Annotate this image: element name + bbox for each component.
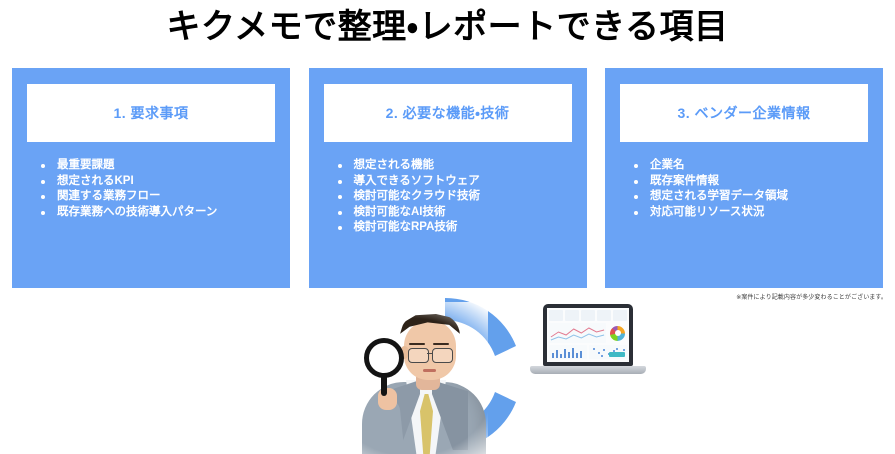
card-3-list: 企業名 既存案件情報 想定される学習データ領域 対応可能リソース状況 — [620, 142, 868, 220]
eyeglasses-lens-left — [408, 348, 429, 363]
card-1-list: 最重要課題 想定されるKPI 関連する業務フロー 既存業務への技術導入パターン — [27, 142, 275, 220]
list-item: 既存案件情報 — [634, 174, 868, 190]
laptop-icon — [530, 304, 646, 386]
list-item: 検討可能なクラウド技術 — [338, 189, 572, 205]
kpi-tile — [581, 310, 595, 321]
card-header-2: 2. 必要な機能・技術 — [324, 84, 572, 142]
card-functions-technology: 2. 必要な機能・技術 想定される機能 導入できるソフトウェア 検討可能なクラウ… — [309, 68, 587, 288]
kpi-tile — [597, 310, 611, 321]
list-item: 関連する業務フロー — [41, 189, 275, 205]
card-requirements: 1. 要求事項 最重要課題 想定されるKPI 関連する業務フロー 既存業務への技… — [12, 68, 290, 288]
list-item: 検討可能なAI技術 — [338, 205, 572, 221]
line-chart-widget — [549, 323, 606, 343]
eyeglasses-bridge — [427, 353, 433, 354]
person-photo — [328, 302, 488, 454]
dashboard-kpi-row — [547, 308, 629, 323]
list-item: 検討可能なRPA技術 — [338, 220, 572, 236]
eyeglasses-lens-right — [432, 348, 453, 363]
card-heading-label: 2. 必要な機能・技術 — [386, 103, 510, 123]
kpi-tile — [613, 310, 627, 321]
illustration-group — [318, 296, 668, 454]
list-item: 既存業務への技術導入パターン — [41, 205, 275, 221]
cards-row: 1. 要求事項 最重要課題 想定されるKPI 関連する業務フロー 既存業務への技… — [12, 68, 883, 288]
card-heading-label: 1. 要求事項 — [113, 103, 188, 123]
card-header-1: 1. 要求事項 — [27, 84, 275, 142]
status-block — [609, 352, 625, 357]
page-title: キクメモで整理・レポートできる項目 — [0, 2, 895, 52]
scatter-chart-widget — [589, 345, 627, 359]
list-item: 想定される学習データ領域 — [634, 189, 868, 205]
list-item: 想定される機能 — [338, 158, 572, 174]
kpi-tile — [549, 310, 563, 321]
laptop-lid — [543, 304, 633, 366]
card-heading-label: 3. ベンダー企業情報 — [677, 103, 810, 123]
dashboard-bottom-row — [547, 343, 629, 361]
list-item: 想定されるKPI — [41, 174, 275, 190]
card-header-3: 3. ベンダー企業情報 — [620, 84, 868, 142]
donut-chart — [610, 326, 625, 341]
magnifying-glass-icon — [364, 338, 404, 378]
kpi-tile — [565, 310, 579, 321]
list-item: 対応可能リソース状況 — [634, 205, 868, 221]
list-item: 導入できるソフトウェア — [338, 174, 572, 190]
list-item: 企業名 — [634, 158, 868, 174]
laptop-screen — [547, 308, 629, 362]
laptop-base — [530, 366, 646, 374]
list-item: 最重要課題 — [41, 158, 275, 174]
card-2-list: 想定される機能 導入できるソフトウェア 検討可能なクラウド技術 検討可能なAI技… — [324, 142, 572, 236]
mouth — [423, 369, 436, 372]
bar-chart-widget — [549, 345, 587, 359]
footnote-disclaimer: ※案件により記載内容が多少変わることがございます。 — [736, 292, 887, 301]
dashboard-mid-row — [547, 323, 629, 343]
donut-chart-widget — [608, 323, 627, 343]
card-vendor-information: 3. ベンダー企業情報 企業名 既存案件情報 想定される学習データ領域 対応可能… — [605, 68, 883, 288]
